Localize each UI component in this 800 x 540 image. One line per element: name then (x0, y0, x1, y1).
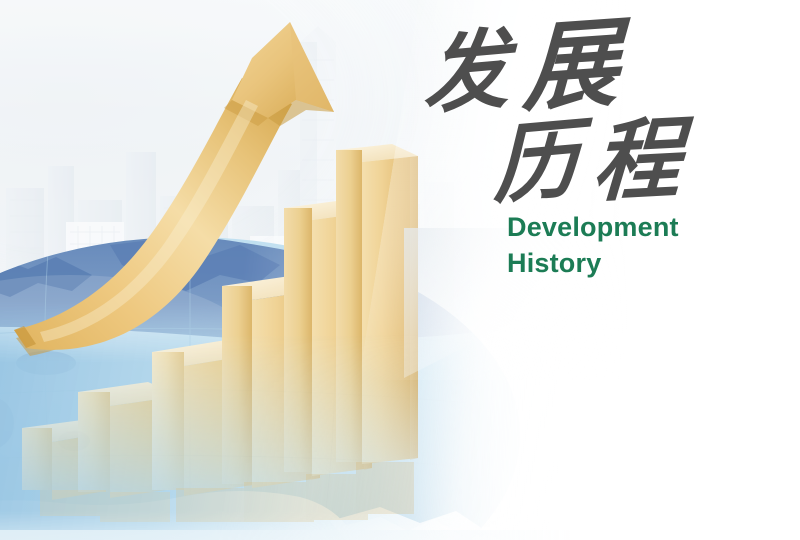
english-title: Development History (415, 210, 745, 281)
gold-rising-arrow-graphic (0, 0, 400, 400)
english-title-line2: History (507, 246, 745, 282)
chinese-calligraphy-title: 发 展 历 程 (415, 16, 745, 206)
english-title-line1: Development (507, 210, 745, 246)
calligraphy-char-zhan: 展 (521, 14, 620, 117)
development-history-banner: 发 展 历 程 Development History (0, 0, 800, 540)
calligraphy-char-fa: 发 (423, 26, 509, 120)
bottom-light-band (0, 530, 800, 540)
calligraphy-char-li: 历 (493, 116, 579, 210)
calligraphy-char-cheng: 程 (591, 114, 684, 207)
title-block: 发 展 历 程 Development History (415, 16, 745, 281)
